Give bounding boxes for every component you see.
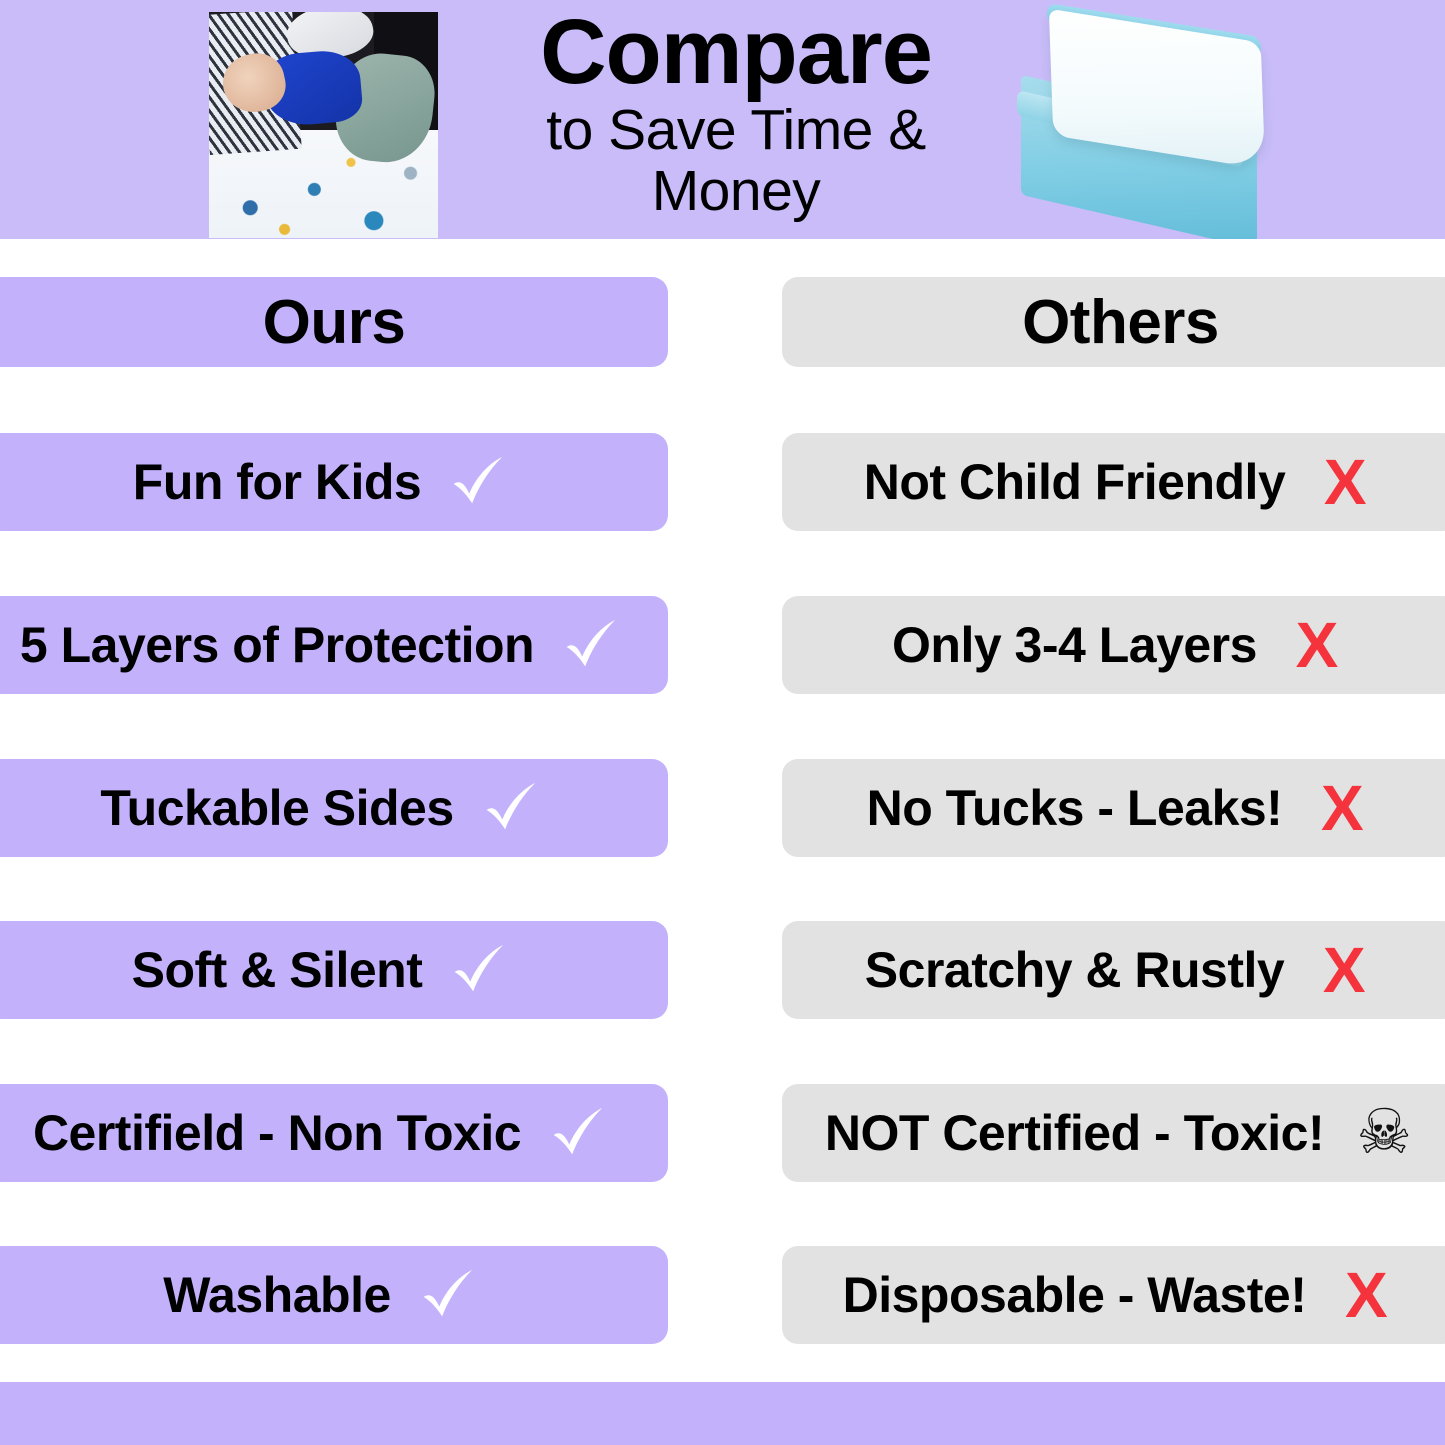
footer-bar <box>0 1382 1445 1445</box>
others-feature-label: Disposable - Waste! <box>843 1266 1307 1324</box>
others-feature-label: No Tucks - Leaks! <box>867 779 1283 837</box>
column-header-row: Ours Others <box>0 277 1445 367</box>
comparison-row: Certifield - Non ToxicNOT Certified - To… <box>0 1084 1445 1182</box>
x-glyph: X <box>1323 938 1366 1002</box>
baby-sleeping-photo <box>209 12 438 238</box>
ours-feature-pill: Tuckable Sides <box>0 759 668 857</box>
column-header-ours: Ours <box>0 277 668 367</box>
check-icon <box>439 444 515 520</box>
check-icon <box>440 932 516 1008</box>
others-feature-label: Scratchy & Rustly <box>865 941 1284 999</box>
ours-feature-label: Fun for Kids <box>133 453 421 511</box>
product-pad-photo <box>1007 16 1297 236</box>
x-glyph: X <box>1296 613 1339 677</box>
check-icon <box>409 1257 485 1333</box>
ours-feature-pill: Certifield - Non Toxic <box>0 1084 668 1182</box>
others-column-label: Others <box>1022 287 1219 358</box>
ours-feature-label: Certifield - Non Toxic <box>33 1104 521 1162</box>
comparison-row: Tuckable SidesNo Tucks - Leaks!X <box>0 759 1445 857</box>
others-feature-label: Only 3-4 Layers <box>892 616 1257 674</box>
cross-icon: X <box>1328 1257 1404 1333</box>
others-feature-pill: Not Child FriendlyX <box>782 433 1445 531</box>
ours-feature-label: Tuckable Sides <box>100 779 453 837</box>
column-header-others: Others <box>782 277 1445 367</box>
skull-glyph: ☠ <box>1356 1102 1412 1164</box>
ours-column-label: Ours <box>263 287 406 358</box>
comparison-row: Fun for KidsNot Child FriendlyX <box>0 433 1445 531</box>
comparison-row: 5 Layers of ProtectionOnly 3-4 LayersX <box>0 596 1445 694</box>
ours-feature-pill: Soft & Silent <box>0 921 668 1019</box>
others-feature-label: Not Child Friendly <box>864 453 1286 511</box>
ours-feature-pill: Fun for Kids <box>0 433 668 531</box>
cross-icon: X <box>1279 607 1355 683</box>
ours-feature-label: Washable <box>163 1266 391 1324</box>
comparison-row: Soft & SilentScratchy & RustlyX <box>0 921 1445 1019</box>
title-subtitle-line-1: to Save Time & <box>486 100 986 162</box>
x-glyph: X <box>1321 776 1364 840</box>
cross-icon: X <box>1307 444 1383 520</box>
others-feature-pill: Only 3-4 LayersX <box>782 596 1445 694</box>
cross-icon: X <box>1304 770 1380 846</box>
comparison-row: WashableDisposable - Waste!X <box>0 1246 1445 1344</box>
header-banner: Compare to Save Time & Money <box>0 0 1445 239</box>
ours-feature-pill: 5 Layers of Protection <box>0 596 668 694</box>
check-icon <box>539 1095 615 1171</box>
x-glyph: X <box>1324 450 1367 514</box>
cross-icon: X <box>1306 932 1382 1008</box>
x-glyph: X <box>1345 1263 1388 1327</box>
others-feature-label: NOT Certified - Toxic! <box>825 1104 1324 1162</box>
others-feature-pill: NOT Certified - Toxic!☠ <box>782 1084 1445 1182</box>
check-icon <box>552 607 628 683</box>
ours-feature-label: 5 Layers of Protection <box>20 616 534 674</box>
others-feature-pill: No Tucks - Leaks!X <box>782 759 1445 857</box>
others-feature-pill: Disposable - Waste!X <box>782 1246 1445 1344</box>
skull-crossbones-icon: ☠ <box>1346 1095 1422 1171</box>
title-subtitle-line-2: Money <box>486 161 986 223</box>
others-feature-pill: Scratchy & RustlyX <box>782 921 1445 1019</box>
ours-feature-label: Soft & Silent <box>132 941 423 999</box>
banner-title-block: Compare to Save Time & Money <box>486 6 986 223</box>
title-main: Compare <box>486 6 986 100</box>
ours-feature-pill: Washable <box>0 1246 668 1344</box>
check-icon <box>472 770 548 846</box>
